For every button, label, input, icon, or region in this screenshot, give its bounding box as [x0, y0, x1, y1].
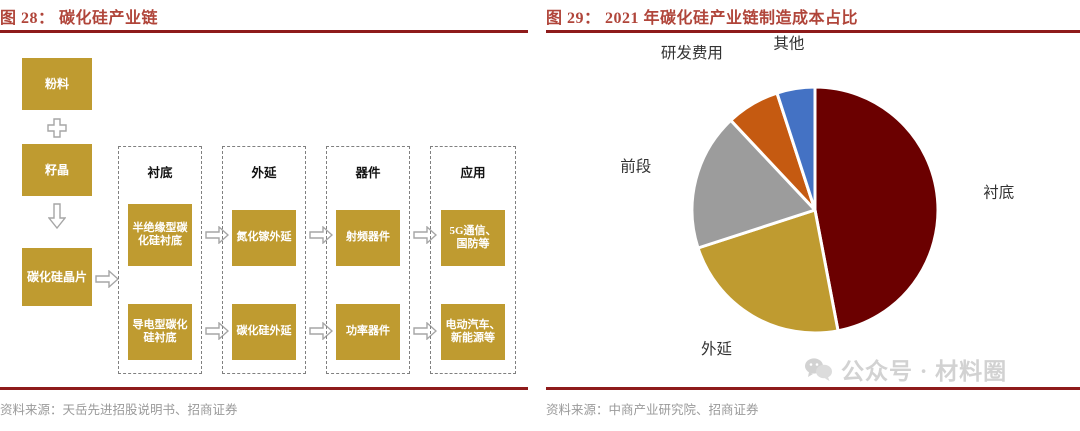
wechat-icon [804, 357, 834, 381]
pie-label-研发费用: 研发费用 [661, 44, 723, 62]
down-arrow-icon [43, 202, 71, 230]
figure-28-source: 资料来源：天岳先进招股说明书、招商证券 [0, 399, 238, 418]
flow-group-label-epitaxy: 外延 [222, 162, 306, 181]
pie-slice-衬底[interactable] [815, 87, 938, 331]
flow-box-rf-device: 射频器件 [336, 210, 400, 266]
figure-29-source: 资料来源：中商产业研究院、招商证券 [546, 399, 759, 418]
figure-28-title-rule [0, 30, 528, 33]
flow-box-sic-epitaxy: 碳化硅外延 [232, 304, 296, 360]
flow-box-semi-insulating-sic-substrate: 半绝缘型碳化硅衬底 [128, 204, 192, 266]
watermark: 公众号 · 材料圈 [804, 352, 1007, 386]
flow-box-conductive-sic-substrate: 导电型碳化硅衬底 [128, 304, 192, 360]
flow-group-label-substrate: 衬底 [118, 162, 202, 181]
figure-28-source-rule [0, 387, 528, 390]
figure-28-title: 图 28： 碳化硅产业链 [0, 4, 158, 28]
flow-box-ev-newenergy: 电动汽车、新能源等 [441, 304, 505, 360]
flow-box-powder: 粉料 [22, 58, 92, 110]
pie-label-前段: 前段 [620, 158, 651, 176]
pie-label-外延: 外延 [701, 340, 732, 358]
figure-29-panel: 图 29： 2021 年碳化硅产业链制造成本占比 衬底外延前段研发费用其他 公众… [546, 0, 1080, 426]
watermark-text: 公众号 · 材料圈 [841, 352, 1007, 386]
pie-label-衬底: 衬底 [983, 184, 1014, 202]
right-arrow-icon-0 [94, 268, 120, 290]
flow-box-seed-crystal: 籽晶 [22, 144, 92, 196]
pie-label-其他: 其他 [773, 35, 804, 53]
figure-28-panel: 图 28： 碳化硅产业链 粉料 籽晶 碳化硅晶片 衬底 半绝缘型碳化硅衬底 导电… [0, 0, 528, 426]
plus-symbol-icon [43, 116, 71, 140]
flow-box-5g-defense: 5G通信、国防等 [441, 210, 505, 266]
flow-box-gan-epitaxy: 氮化镓外延 [232, 210, 296, 266]
figure-29-source-rule [546, 387, 1080, 390]
flow-group-label-devices: 器件 [326, 162, 410, 181]
flow-box-sic-wafer: 碳化硅晶片 [22, 248, 92, 306]
flow-box-power-device: 功率器件 [336, 304, 400, 360]
flow-group-label-applications: 应用 [430, 162, 516, 181]
